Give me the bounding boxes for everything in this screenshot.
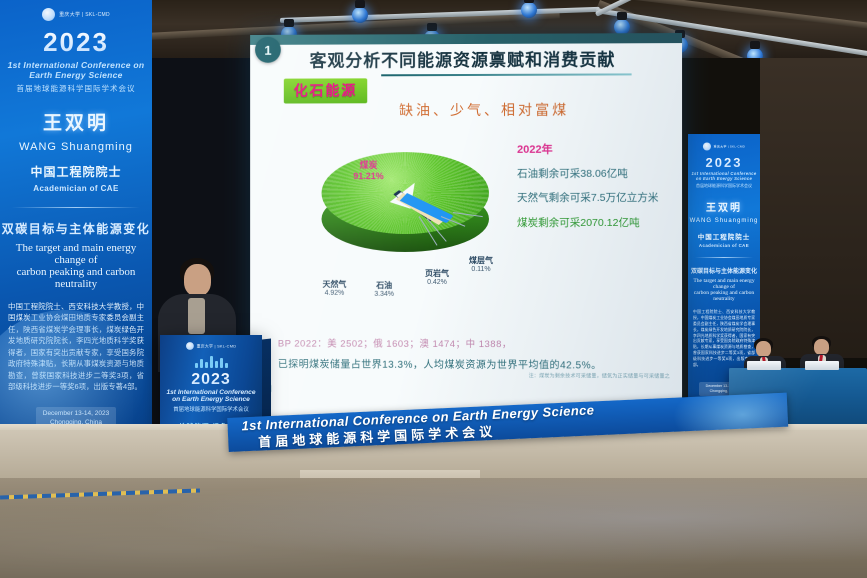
university-logo: 重庆大学 | SKL-CMD [702,142,747,150]
slide-title-underline [381,73,631,76]
nameplate-right [805,361,839,370]
slide-reserves-column: 2022年 石油剩余可采38.06亿吨 天然气剩余可采7.5万亿立方米 煤炭剩余… [517,142,668,241]
panelist-head [756,341,771,357]
talk-title-cn: 双碳目标与主体能源变化 [688,266,760,275]
pie-label-oil-pct: 0.11% [461,266,501,275]
banner-conference-cn: 首届地球能源科学国际学术会议 [688,183,760,189]
presentation-screen: 1 客观分析不同能源资源禀赋和消费贡献 化石能源 缺油、少气、相对富煤 煤炭 9… [250,33,682,425]
stage-light [352,7,368,23]
university-emblem-icon [703,142,711,150]
pie-label-natural-gas: 页岩气 0.42% [415,269,459,288]
university-logo: 重庆大学 | SKL-CMD [171,342,251,350]
reserves-year: 2022年 [517,142,668,159]
university-emblem-icon [42,8,55,21]
banner-conference-en: 1st International Conference on Earth En… [688,171,760,181]
fossil-energy-pie-chart: 煤炭 91.21% 天然气 4.92% 石油 3.34% 页岩气 0.42% [286,138,535,328]
right-wall-panel [760,58,867,358]
speaker-affiliation-en: Academician of CAE [0,184,152,193]
pie-label-coal-name: 煤炭 [353,160,383,171]
slide-subtitle: 缺油、少气、相对富煤 [399,100,569,120]
light-yoke [427,23,437,31]
talk-title-en-line2: carbon peaking and carbon neutrality [688,290,760,302]
slide-category-chip: 化石能源 [284,78,367,103]
pie-label-coal: 煤炭 91.21% [353,160,383,182]
banner-conference-cn: 首届地球能源科学国际学术会议 [0,83,152,94]
reserves-gas: 天然气剩余可采7.5万亿立方米 [517,191,668,207]
nameplate-left [747,361,781,370]
speaker-name-en: WANG Shuangming [688,218,760,224]
talk-title-en-line1: The target and main energy change of [0,242,152,266]
pie-label-oil: 煤层气 0.11% [461,256,501,275]
podium-conference-en-line1: 1st International Conference [160,389,262,396]
pie-label-natural-gas-name: 页岩气 [415,269,459,279]
banner-conference-en: 1st International Conference on Earth En… [0,60,152,80]
banner-year: 2023 [0,27,152,58]
pie-label-coal-pct: 91.21% [353,171,383,182]
speaker-name-cn: 王双明 [0,108,152,135]
university-emblem-icon [186,342,194,350]
light-yoke [355,0,365,8]
slide-step-badge: 1 [255,37,281,63]
logo-text: 重庆大学 | SKL-CMD [197,343,237,348]
light-yoke [750,41,760,49]
pie-label-natural-gas-pct: 0.42% [415,279,459,288]
pie-label-cbm: 石油 3.34% [361,281,407,300]
speaker-head [184,264,211,296]
skyline-graphic [160,354,262,368]
university-logo: 重庆大学 | SKL-CMD [0,8,152,21]
pie-label-cbm-name: 石油 [361,281,407,291]
light-yoke [617,12,627,20]
slide-footer-line1: BP 2022：美 2502；俄 1603；澳 1474；中 1388， [278,336,668,351]
panelist-head [814,339,829,355]
pie-label-cbm-pct: 3.34% [361,291,407,300]
speaker-affiliation-cn: 中国工程院院士 [688,231,760,241]
pie-label-shale-gas-pct: 4.92% [312,290,358,299]
light-yoke [284,19,294,27]
slide-footnote: 注：煤炭为剩余技术可采储量，储気为正实储量与可采储量之 [444,372,670,380]
slide-top-band [250,33,682,45]
divider [695,257,753,258]
speaker-affiliation-cn: 中国工程院院士 [0,163,152,180]
talk-title-cn: 双碳目标与主体能源变化 [0,220,152,237]
speaker-affiliation-en: Academician of CAE [688,243,760,248]
slide-footer: BP 2022：美 2502；俄 1603；澳 1474；中 1388， 已探明… [278,336,668,372]
pie-label-oil-name: 煤层气 [461,256,501,266]
stage-light [521,2,537,18]
talk-title-en-line1: The target and main energy change of [688,278,760,290]
banner-year: 2023 [688,155,760,170]
pie-label-shale-gas: 天然气 4.92% [312,280,358,299]
speaker-collar [188,298,205,334]
logo-text: 重庆大学 | SKL-CMD [714,144,745,148]
reserves-oil: 石油剩余可采38.06亿吨 [517,166,668,182]
conference-hall-scene: 重庆大学 | SKL-CMD 2023 1st International Co… [0,0,867,578]
speaker-name-en: WANG Shuangming [0,141,152,153]
talk-title-en-line2: carbon peaking and carbon neutrality [0,266,152,290]
pie-label-shale-gas-name: 天然气 [312,280,358,290]
podium-conference-en-line2: on Earth Energy Science [160,396,262,403]
slide-footer-line2: 已探明煤炭储量占世界13.3%，人均煤炭资源为世界平均值的42.5%。 [278,355,668,371]
podium-year: 2023 [160,371,262,389]
slide-title: 客观分析不同能源资源禀赋和消费贡献 [310,45,670,71]
reserves-coal: 煤炭剩余可采2070.12亿吨 [517,216,668,232]
left-speaker-banner: 重庆大学 | SKL-CMD 2023 1st International Co… [0,0,152,430]
speaker-name-cn: 王双明 [688,199,760,214]
divider [12,207,140,208]
logo-text: 重庆大学 | SKL-CMD [59,11,110,18]
podium-conference-cn: 首届地球能源科学国际学术会议 [160,405,262,413]
light-yoke [524,0,534,3]
